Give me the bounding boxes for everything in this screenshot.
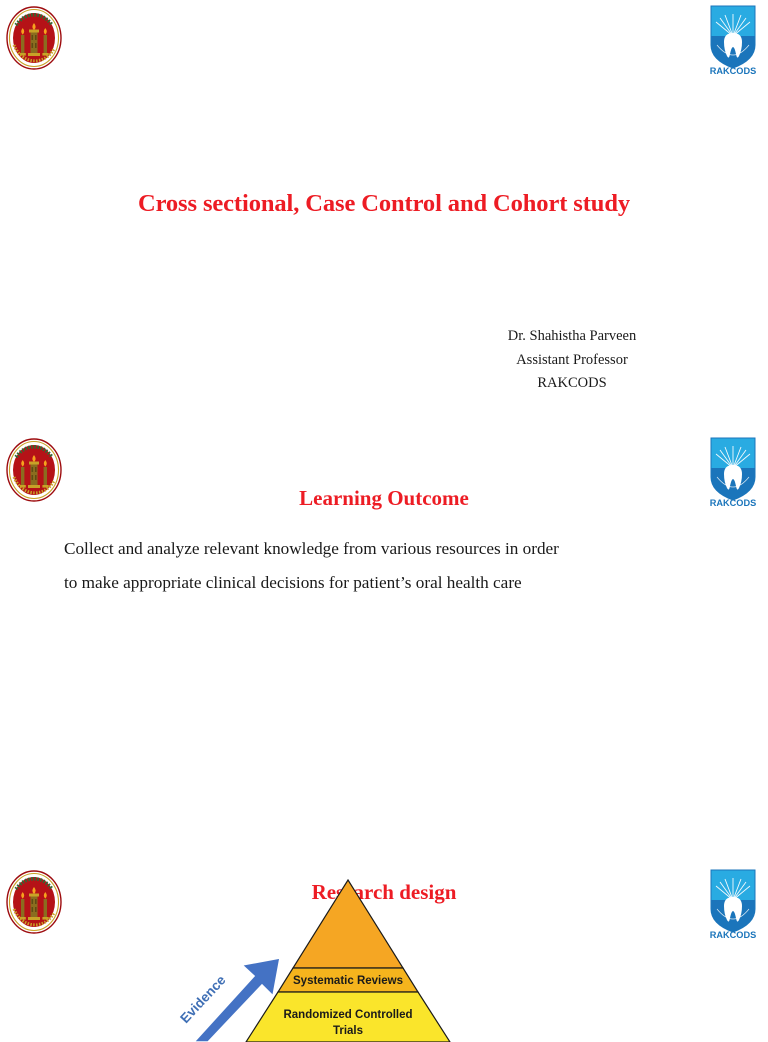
page-title: Cross sectional, Case Control and Cohort…: [0, 190, 768, 218]
evidence-pyramid: Systematic Reviews Randomized Controlled…: [150, 872, 550, 1032]
learning-outcome-line-2: to make appropriate clinical decisions f…: [64, 566, 664, 600]
author-designation: Assistant Professor: [442, 349, 702, 373]
slide-learning-outcome: RAKCODS Learning Outcome Collect and ana…: [0, 432, 768, 864]
svg-text:RAKCODS: RAKCODS: [710, 66, 756, 75]
apex-tier: [293, 880, 403, 968]
learning-outcome-body: Collect and analyze relevant knowledge f…: [64, 532, 664, 600]
author-name: Dr. Shahistha Parveen: [442, 325, 702, 349]
slide-research-design: RAKCODS Research design Systematic Revie…: [0, 864, 768, 1024]
rakcods-logo: RAKCODS: [706, 3, 760, 75]
randomized-controlled-trials-label-line2: Trials: [333, 1025, 363, 1037]
author-institution: RAKCODS: [442, 372, 702, 396]
randomized-controlled-trials-label-line1: Randomized Controlled: [283, 1009, 412, 1021]
learning-outcome-line-1: Collect and analyze relevant knowledge f…: [64, 532, 664, 566]
systematic-reviews-label: Systematic Reviews: [293, 975, 403, 987]
svg-text:RAKCODS: RAKCODS: [710, 930, 756, 939]
slide-title: RAKCODS Cross sectional, Case Control an…: [0, 0, 768, 432]
author-block: Dr. Shahistha Parveen Assistant Professo…: [442, 325, 702, 396]
section-heading-learning-outcome: Learning Outcome: [0, 486, 768, 511]
university-seal-logo: [5, 5, 63, 71]
